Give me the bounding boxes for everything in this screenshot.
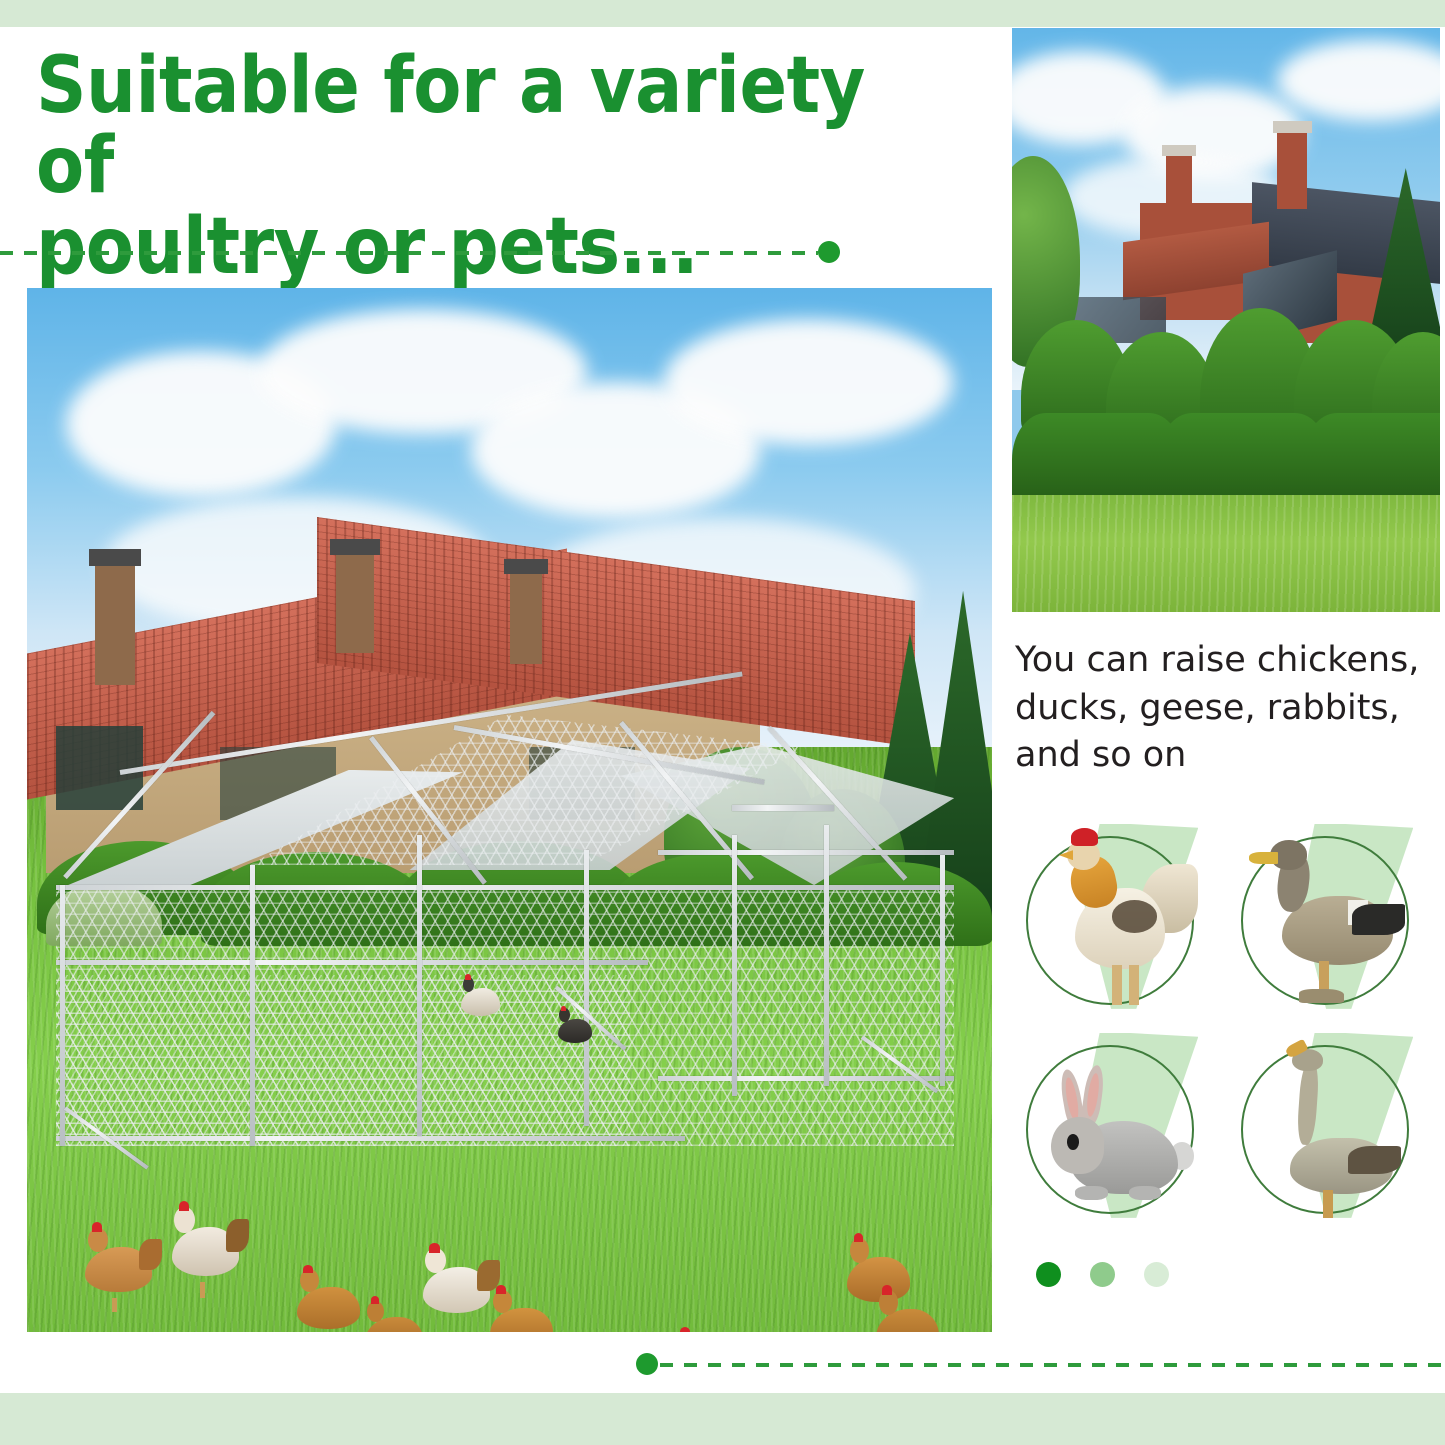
chicken-comb: [496, 1285, 505, 1294]
chicken-body: [461, 988, 500, 1015]
corner-post: [940, 855, 945, 1086]
chicken: [876, 1290, 939, 1332]
suitable-animals-grid: [1022, 820, 1442, 1230]
chimney: [1277, 127, 1307, 209]
chicken-tail: [139, 1239, 162, 1270]
chicken-inside-coop: [461, 977, 500, 1021]
dashed-line: [660, 1363, 1445, 1367]
mid-rail: [56, 960, 649, 965]
bottom-accent-band: [0, 1393, 1445, 1445]
top-rail: [56, 885, 955, 890]
top-accent-band: [0, 0, 1445, 27]
animal-cell-rabbit: [1022, 1029, 1227, 1230]
chimney: [1166, 151, 1192, 215]
rooster-beak: [1059, 850, 1073, 860]
duck-wing: [1352, 904, 1405, 934]
chicken-body: [297, 1287, 360, 1329]
chicken-tail: [226, 1219, 249, 1252]
product-infographic-page: Suitable for a variety of poultry or pet…: [0, 0, 1445, 1445]
post: [250, 865, 255, 1146]
wall-mesh-front: [56, 975, 630, 1145]
door-post: [824, 825, 829, 1086]
end-bottom-rail: [658, 1076, 954, 1081]
bottom-divider-rule: [636, 1362, 1445, 1367]
chimney-cap: [1162, 145, 1196, 157]
door-post: [732, 835, 737, 1096]
post: [584, 850, 589, 1126]
chicken: [490, 1290, 553, 1332]
duck-beak: [1249, 852, 1278, 864]
animal-cell-goose: [1237, 1029, 1442, 1230]
chimney-cap: [89, 549, 141, 566]
chicken-body: [558, 1019, 593, 1044]
chicken-comb: [371, 1296, 380, 1304]
goose-wing: [1348, 1146, 1401, 1174]
chimney: [336, 549, 375, 653]
chimney-cap: [504, 559, 548, 574]
chicken-comb: [303, 1265, 312, 1274]
rooster-leg: [1112, 965, 1122, 1005]
pagination-dot-2[interactable]: [1090, 1262, 1115, 1287]
bottom-rail: [56, 1136, 686, 1141]
chicken-leg: [200, 1282, 205, 1298]
chimney-cap: [1273, 121, 1312, 133]
chimney: [95, 559, 136, 684]
chicken-inside-coop: [558, 1008, 593, 1048]
chicken-comb: [882, 1285, 891, 1295]
chicken-leg: [112, 1298, 117, 1313]
chimney: [510, 570, 543, 664]
duck-icon: [1237, 820, 1442, 1021]
dashed-line: [0, 251, 818, 255]
goose-neck: [1296, 1061, 1320, 1146]
door-header: [732, 805, 834, 811]
animal-cell-chicken: [1022, 820, 1227, 1021]
chicken: [297, 1269, 360, 1332]
rooster-wing: [1112, 900, 1157, 932]
garden-house-photo: [1012, 28, 1440, 612]
rabbit-eye: [1067, 1134, 1079, 1150]
lawn: [1012, 495, 1440, 612]
hedge-row: [1303, 413, 1440, 506]
rule-end-dot: [818, 241, 840, 263]
rooster-icon: [1022, 820, 1227, 1021]
rabbit-icon: [1022, 1029, 1227, 1230]
chicken-comb: [854, 1233, 863, 1243]
end-top-rail: [658, 850, 954, 855]
duck-foot: [1299, 989, 1344, 1003]
rabbit-foot: [1129, 1186, 1162, 1200]
chicken: [365, 1301, 423, 1332]
chicken: [172, 1207, 240, 1285]
goose-leg: [1323, 1190, 1333, 1218]
rabbit-foot: [1075, 1186, 1108, 1200]
chicken-comb: [465, 974, 471, 980]
chicken-comb: [92, 1222, 102, 1232]
chicken-comb: [179, 1201, 189, 1211]
rooster-leg: [1129, 965, 1139, 1005]
chicken-comb: [561, 1006, 566, 1011]
caption-text: You can raise chickens, ducks, geese, ra…: [1015, 637, 1435, 780]
rooster-comb: [1071, 828, 1098, 846]
top-divider-rule: [0, 250, 840, 255]
animal-cell-duck: [1237, 820, 1442, 1021]
rule-end-dot: [636, 1353, 658, 1375]
chimney-cap: [330, 539, 380, 556]
pagination-dot-3[interactable]: [1144, 1262, 1169, 1287]
main-product-photo: [27, 288, 992, 1332]
chicken-comb: [429, 1243, 439, 1253]
chicken: [85, 1228, 153, 1301]
pagination-dots[interactable]: [1036, 1262, 1169, 1287]
cloud: [664, 319, 954, 444]
post: [417, 835, 422, 1136]
goose-icon: [1237, 1029, 1442, 1230]
chicken: [423, 1248, 491, 1321]
pagination-dot-1[interactable]: [1036, 1262, 1061, 1287]
chicken-coop-structure: [46, 685, 972, 1186]
